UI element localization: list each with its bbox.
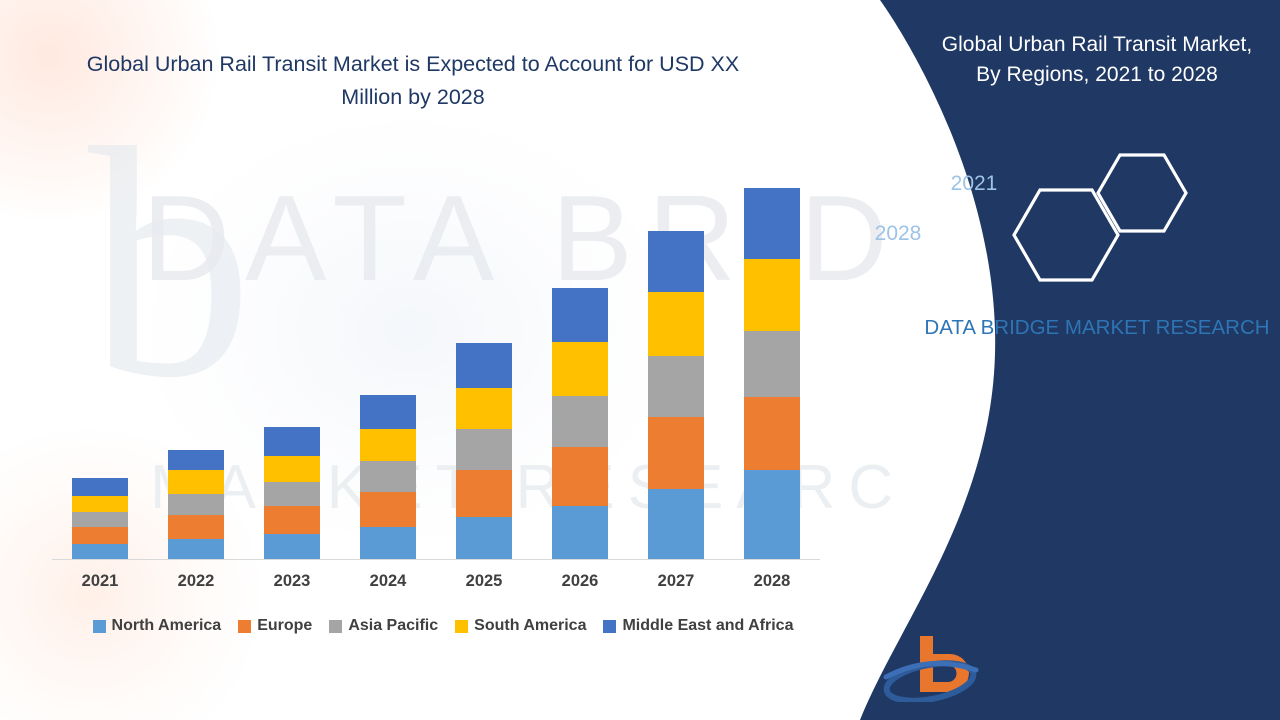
bar-segment — [648, 292, 704, 356]
bar-segment — [72, 544, 128, 560]
chart-legend: North AmericaEuropeAsia PacificSouth Ame… — [58, 617, 828, 635]
bar-segment — [648, 489, 704, 560]
x-axis-line — [52, 559, 820, 560]
stacked-bar — [72, 478, 128, 560]
bar-segment — [72, 478, 128, 495]
panel-title: Global Urban Rail Transit Market, By Reg… — [932, 30, 1262, 91]
bar-segment — [72, 527, 128, 543]
brand-panel: Global Urban Rail Transit Market, By Reg… — [840, 0, 1280, 720]
x-axis-label-2024: 2024 — [340, 572, 436, 591]
bar-column-2024 — [340, 162, 436, 560]
bar-segment — [456, 429, 512, 470]
x-axis-label-2025: 2025 — [436, 572, 532, 591]
bar-segment — [168, 515, 224, 539]
bar-segment — [72, 512, 128, 527]
bar-column-2028 — [724, 162, 820, 560]
x-axis-label-2022: 2022 — [148, 572, 244, 591]
bar-column-2025 — [436, 162, 532, 560]
bar-segment — [168, 450, 224, 471]
x-axis-label-2021: 2021 — [52, 572, 148, 591]
bar-segment — [744, 188, 800, 259]
x-axis-label-2023: 2023 — [244, 572, 340, 591]
bar-segment — [168, 494, 224, 515]
bar-segment — [552, 288, 608, 342]
legend-item[interactable]: Middle East and Africa — [603, 617, 793, 635]
bar-segment — [168, 539, 224, 560]
bar-segment — [456, 517, 512, 560]
legend-swatch-icon — [603, 620, 616, 633]
bar-column-2021 — [52, 162, 148, 560]
legend-item[interactable]: South America — [455, 617, 586, 635]
bar-column-2027 — [628, 162, 724, 560]
bar-segment — [744, 331, 800, 397]
stacked-bar — [360, 395, 416, 560]
stacked-bar — [744, 188, 800, 560]
bar-segment — [264, 534, 320, 560]
hexagon-2028-label: 2028 — [860, 222, 936, 246]
hexagon-shapes — [992, 150, 1222, 285]
bar-segment — [552, 396, 608, 447]
stacked-bar — [264, 427, 320, 560]
company-logo: DATA BRIDGE MARKET RESEARCH — [858, 632, 1088, 702]
legend-swatch-icon — [329, 620, 342, 633]
bar-segment — [648, 231, 704, 292]
stacked-bar — [648, 231, 704, 560]
chart-title: Global Urban Rail Transit Market is Expe… — [60, 48, 766, 115]
legend-swatch-icon — [238, 620, 251, 633]
bar-segment — [744, 259, 800, 330]
legend-label: South America — [474, 617, 586, 635]
bar-segment — [360, 395, 416, 428]
legend-swatch-icon — [455, 620, 468, 633]
legend-label: North America — [112, 617, 222, 635]
bar-segment — [264, 456, 320, 482]
bar-segment — [456, 343, 512, 387]
hexagon-2021-label: 2021 — [936, 172, 1012, 196]
hexagon-2021-outline — [1098, 155, 1186, 231]
bar-segment — [264, 427, 320, 456]
bar-segment — [744, 470, 800, 560]
bar-segment — [648, 417, 704, 488]
x-axis-label-2028: 2028 — [724, 572, 820, 591]
bar-segment — [456, 470, 512, 517]
legend-item[interactable]: Europe — [238, 617, 312, 635]
bar-segment — [360, 429, 416, 462]
legend-item[interactable]: North America — [93, 617, 222, 635]
bar-column-2022 — [148, 162, 244, 560]
bar-column-2026 — [532, 162, 628, 560]
bar-column-2023 — [244, 162, 340, 560]
bar-segment — [648, 356, 704, 417]
legend-swatch-icon — [93, 620, 106, 633]
bar-segment — [552, 447, 608, 506]
legend-label: Europe — [257, 617, 312, 635]
stacked-bar — [552, 288, 608, 560]
x-axis-labels: 20212022202320242025202620272028 — [52, 572, 820, 591]
hexagon-group — [992, 150, 1222, 285]
x-axis-label-2026: 2026 — [532, 572, 628, 591]
stacked-bar — [456, 343, 512, 560]
bar-segment — [456, 388, 512, 430]
x-axis-label-2027: 2027 — [628, 572, 724, 591]
bar-segment — [72, 496, 128, 512]
bar-segment — [264, 506, 320, 534]
bar-segment — [168, 470, 224, 494]
logo-mark-icon — [858, 632, 1088, 702]
legend-item[interactable]: Asia Pacific — [329, 617, 438, 635]
bar-segment — [744, 397, 800, 470]
legend-label: Middle East and Africa — [622, 617, 793, 635]
bar-group — [52, 162, 820, 560]
bar-segment — [360, 461, 416, 491]
stacked-bar — [168, 450, 224, 560]
brand-name-text: DATA BRIDGE MARKET RESEARCH — [922, 312, 1272, 344]
bar-segment — [360, 527, 416, 560]
chart-plot-area — [52, 160, 820, 560]
bar-segment — [264, 482, 320, 506]
bar-segment — [552, 342, 608, 396]
bar-segment — [360, 492, 416, 528]
legend-label: Asia Pacific — [348, 617, 438, 635]
bar-segment — [552, 506, 608, 560]
